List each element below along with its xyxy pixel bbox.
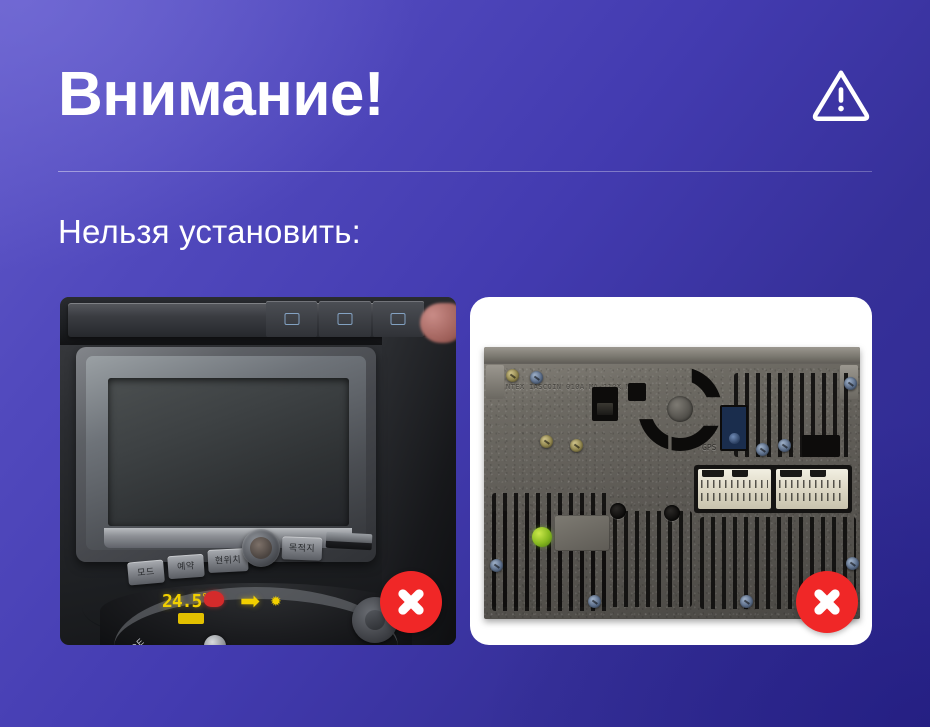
status-badge-not-allowed-right (796, 571, 858, 633)
head-unit-chassis: NTEX IASCOIN 010A MA-J10X MI-1 GPS (484, 347, 860, 619)
chassis-screw-9 (846, 557, 859, 570)
connector-notch (780, 470, 802, 477)
warning-triangle-icon (810, 64, 872, 126)
chassis-screw-10 (588, 595, 601, 608)
heatsink-fins-lower-left (492, 493, 612, 611)
header-divider (58, 171, 872, 172)
header: Внимание! (58, 52, 872, 138)
bezel-inner-frame (86, 356, 366, 550)
defrost-button-icon (266, 301, 317, 337)
chassis-top-lip (484, 347, 860, 364)
dashboard-climate-button-row (266, 301, 424, 337)
chassis-screw-7 (844, 377, 857, 390)
connector-pin-row-1 (701, 480, 768, 488)
chassis-screw-6 (778, 439, 791, 452)
iso-connector-speaker (776, 469, 849, 509)
head-unit-rear-photo: NTEX IASCOIN 010A MA-J10X MI-1 GPS (470, 297, 872, 645)
fan-cutout (638, 367, 722, 451)
chassis-flat-plate (554, 515, 610, 551)
page-title: Внимание! (58, 64, 384, 126)
chassis-screw-5 (756, 443, 769, 456)
rear-defrost-button-icon (319, 301, 370, 337)
seat-heater-icon: ➡ (240, 587, 266, 617)
gps-label: GPS (702, 443, 716, 452)
recirculation-button-icon (373, 301, 424, 337)
chassis-screw-3 (540, 435, 553, 448)
mounting-hole-2 (664, 505, 680, 521)
gps-antenna-port (720, 405, 748, 451)
fan-icon: ✹ (270, 593, 286, 609)
photographer-thumb (420, 303, 456, 343)
photo-card-row: 모드 예약 현위치 목적지 24.5° ➡ ✹ (60, 297, 872, 645)
connector-pin-row-2 (701, 493, 768, 501)
sd-card-slot (326, 532, 373, 550)
connector-notch (702, 470, 724, 477)
blank-port-cover (802, 435, 840, 457)
connector-notch-2 (732, 470, 748, 477)
chassis-screw-8 (490, 559, 503, 572)
head-unit-screen (108, 378, 349, 526)
head-unit-rotary-knob (242, 529, 280, 567)
slide-canvas: Внимание! Нельзя установить: (0, 0, 930, 727)
connector-pin-row-1 (779, 480, 846, 488)
section-subtitle: Нельзя установить: (58, 213, 361, 251)
usb-port (592, 387, 618, 421)
mounting-bracket-left (486, 365, 504, 399)
climate-red-indicator (204, 591, 224, 607)
connector-pin-row-2 (779, 493, 846, 501)
iso-connector-power (698, 469, 771, 509)
green-inspection-sticker (532, 527, 552, 547)
mounting-hole-1 (610, 503, 626, 519)
climate-control-panel: 24.5° ➡ ✹ MODE (100, 583, 412, 645)
head-unit-bezel (76, 347, 376, 562)
temperature-value: 24.5 (162, 591, 201, 612)
fan-hub (667, 396, 693, 422)
aux-port (628, 383, 646, 401)
connector-notch-2 (810, 470, 826, 477)
climate-amber-indicator (178, 613, 204, 624)
chassis-screw-2 (530, 371, 543, 384)
status-badge-not-allowed-left (380, 571, 442, 633)
chassis-screw-11 (740, 595, 753, 608)
iso-connector-block (694, 465, 852, 513)
chassis-embossed-text: NTEX IASCOIN 010A MA-J10X MI-1 (506, 383, 644, 391)
chassis-screw-1 (506, 369, 519, 382)
chassis-screw-4 (570, 439, 583, 452)
car-dashboard-photo: 모드 예약 현위치 목적지 24.5° ➡ ✹ (60, 297, 456, 645)
